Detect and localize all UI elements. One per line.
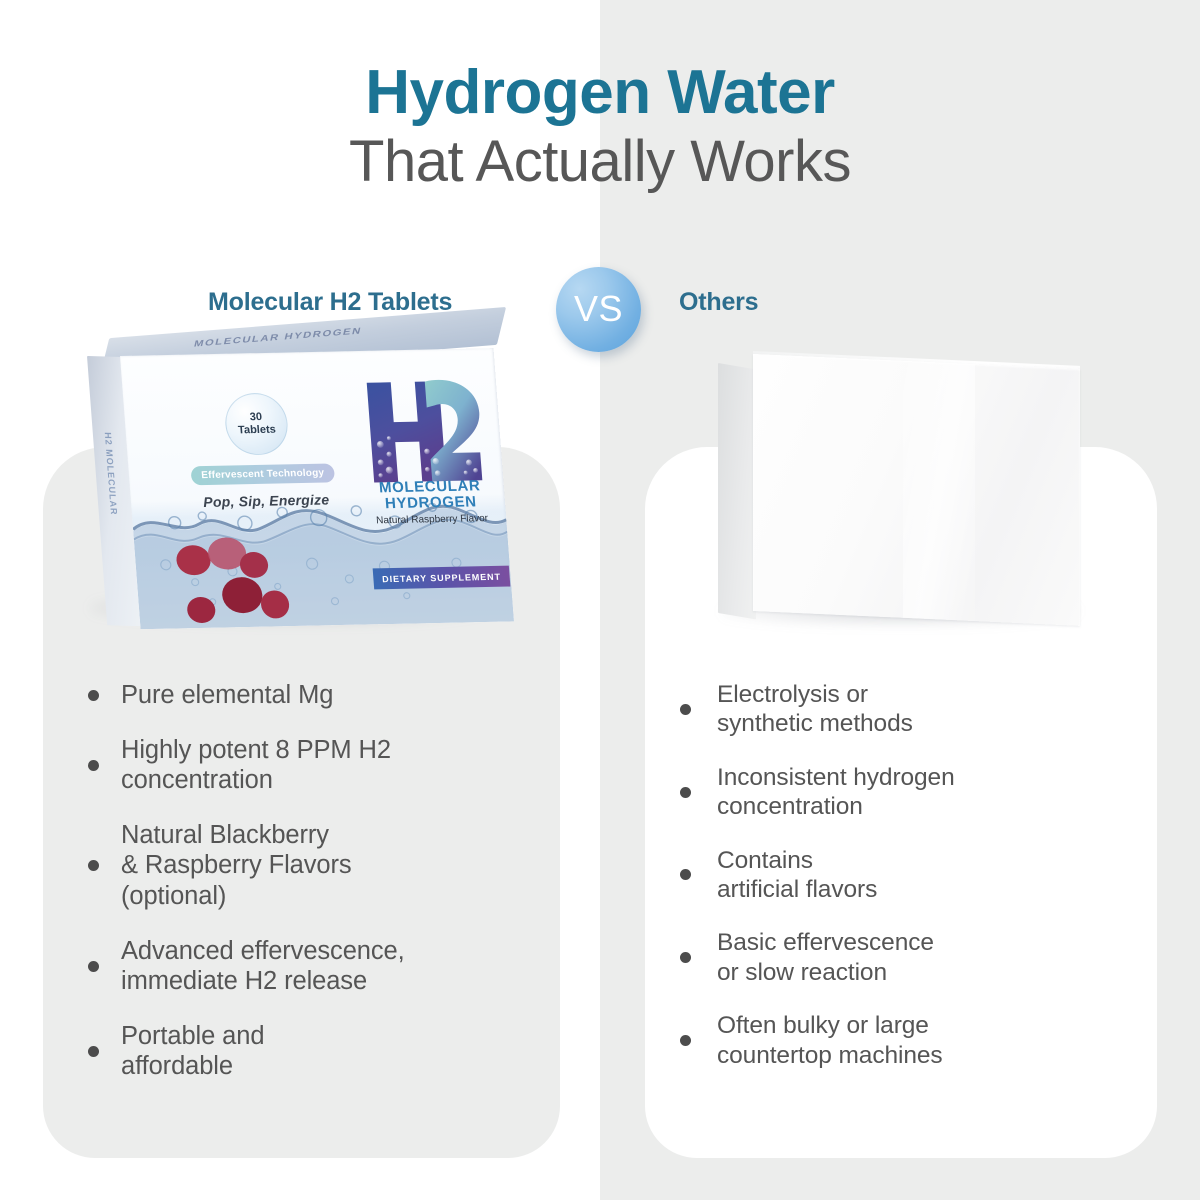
list-item: Natural Blackberry & Raspberry Flavors (… [88,820,528,912]
tablets-count-bubble: 30 Tablets [223,392,290,455]
list-item: Often bulky or large countertop machines [680,1011,1120,1070]
product-box-top-face-text: MOLECULAR HYDROGEN [193,326,363,349]
list-item: Contains artificial flavors [680,846,1120,905]
list-item: Inconsistent hydrogen concentration [680,763,1120,822]
list-item: Electrolysis or synthetic methods [680,680,1120,739]
bullet-dot-icon [680,787,691,798]
competitor-box-side-face [718,363,756,619]
feature-list-right: Electrolysis or synthetic methods Incons… [680,680,1120,1094]
list-item: Pure elemental Mg [88,680,528,711]
list-item-label: Basic effervescence or slow reaction [717,928,934,987]
bullet-dot-icon [680,704,691,715]
effervescent-technology-label: Effervescent Technology [201,468,325,482]
list-item-label: Advanced effervescence, immediate H2 rel… [121,936,405,997]
competitor-plain-box [700,350,1100,650]
bullet-dot-icon [88,690,99,701]
list-item-label: Natural Blackberry & Raspberry Flavors (… [121,820,352,912]
list-item: Basic effervescence or slow reaction [680,928,1120,987]
bullet-dot-icon [680,869,691,880]
h2-logo-svg [362,376,485,486]
list-item: Highly potent 8 PPM H2 concentration [88,735,528,796]
bullet-dot-icon [680,1035,691,1046]
list-item: Portable and affordable [88,1021,528,1082]
list-item-label: Contains artificial flavors [717,846,877,905]
tablets-count-label: Tablets [238,424,277,437]
bullet-dot-icon [88,760,99,771]
bullet-dot-icon [88,860,99,871]
dietary-supplement-banner: DIETARY SUPPLEMENT [373,566,511,590]
tablets-count-number: 30 [249,411,262,424]
page-title: Hydrogen Water That Actually Works [0,62,1200,196]
list-item-label: Highly potent 8 PPM H2 concentration [121,735,391,796]
list-item-label: Portable and affordable [121,1021,264,1082]
product-tagline: Pop, Sip, Energize [196,491,337,510]
product-box-h2-tablets: MOLECULAR HYDROGEN H2 MOLECULAR [62,332,512,652]
column-header-right: Others [679,288,758,317]
h2-logo-icon [362,376,485,486]
bullet-dot-icon [680,952,691,963]
list-item-label: Electrolysis or synthetic methods [717,680,913,739]
logo-text-hydrogen: HYDROGEN [369,494,492,512]
column-header-left: Molecular H2 Tablets [208,288,452,317]
effervescent-technology-badge: Effervescent Technology [190,463,335,485]
product-box-side-face-text: H2 MOLECULAR [103,432,119,516]
vs-badge-label: VS [574,291,623,329]
list-item-label: Pure elemental Mg [121,680,333,711]
list-item: Advanced effervescence, immediate H2 rel… [88,936,528,997]
title-main-line: Hydrogen Water [0,62,1200,124]
dietary-supplement-label: DIETARY SUPPLEMENT [382,571,501,583]
bullet-dot-icon [88,961,99,972]
title-sub-line: That Actually Works [0,128,1200,196]
competitor-box-sheen [903,354,975,626]
list-item-label: Often bulky or large countertop machines [717,1011,943,1070]
feature-list-left: Pure elemental Mg Highly potent 8 PPM H2… [88,680,528,1106]
list-item-label: Inconsistent hydrogen concentration [717,763,955,822]
product-box-front-face: 30 Tablets Effervescent Technology Pop, … [120,348,514,629]
vs-badge: VS [556,267,641,352]
bullet-dot-icon [88,1046,99,1057]
competitor-box-front-face [753,354,1080,626]
